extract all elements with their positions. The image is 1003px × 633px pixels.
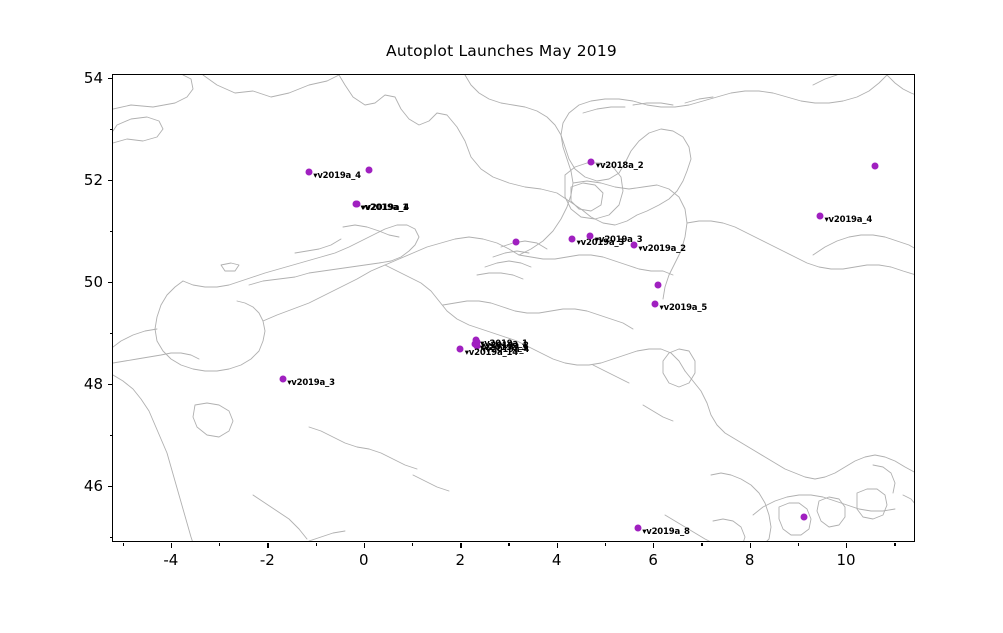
x-tick-label: -2 (260, 551, 275, 569)
data-point[interactable] (569, 235, 576, 242)
coastline-svg (113, 75, 914, 541)
x-minor-tick (701, 543, 702, 546)
data-point[interactable] (512, 239, 519, 246)
x-minor-tick (894, 543, 895, 546)
data-point[interactable] (457, 346, 464, 353)
x-tick-label: 8 (745, 551, 755, 569)
data-point-label: ▾v2019a_3 (287, 378, 335, 388)
x-tick-label: 10 (837, 551, 856, 569)
data-point-label: ▾v2019a_8 (642, 527, 690, 537)
x-tick (460, 543, 461, 548)
data-point-label: ▾v2019a_4 (824, 215, 872, 225)
y-minor-tick (110, 231, 113, 232)
x-tick (557, 543, 558, 548)
data-point[interactable] (800, 513, 807, 520)
x-tick (846, 543, 847, 548)
data-point[interactable] (366, 167, 373, 174)
x-minor-tick (219, 543, 220, 546)
page-title: Autoplot Launches May 2019 (0, 42, 1003, 60)
x-tick (267, 543, 268, 548)
x-tick-label: 6 (648, 551, 658, 569)
x-minor-tick (412, 543, 413, 546)
data-point-label: ▾v2019a_2 (638, 244, 686, 254)
data-point-label: ▾v2019a_14 (465, 348, 518, 358)
x-tick (653, 543, 654, 548)
data-point-label: ▾v2018a_2 (596, 161, 644, 171)
plot-figure: Autoplot Launches May 2019 (0, 0, 1003, 633)
data-point[interactable] (871, 162, 878, 169)
y-tick-label: 54 (84, 69, 103, 87)
y-tick (108, 180, 113, 181)
x-tick (364, 543, 365, 548)
data-point[interactable] (630, 241, 637, 248)
data-point[interactable] (279, 376, 286, 383)
y-minor-tick (110, 435, 113, 436)
data-point[interactable] (655, 281, 662, 288)
x-minor-tick (605, 543, 606, 546)
x-tick-label: 4 (552, 551, 562, 569)
y-tick-label: 46 (84, 477, 103, 495)
y-minor-tick (110, 333, 113, 334)
basemap-layer (113, 75, 914, 541)
y-minor-tick (110, 129, 113, 130)
y-minor-tick (110, 537, 113, 538)
x-tick-label: -4 (163, 551, 178, 569)
y-tick (108, 486, 113, 487)
x-tick (750, 543, 751, 548)
data-point[interactable] (652, 300, 659, 307)
y-tick-label: 48 (84, 375, 103, 393)
data-point[interactable] (353, 201, 360, 208)
x-minor-tick (316, 543, 317, 546)
x-minor-tick (798, 543, 799, 546)
y-tick (108, 78, 113, 79)
y-tick (108, 282, 113, 283)
data-point[interactable] (587, 232, 594, 239)
y-tick-label: 50 (84, 273, 103, 291)
y-tick-label: 52 (84, 171, 103, 189)
data-point-label: ▾v2019a_5 (660, 303, 708, 313)
x-tick-label: 0 (359, 551, 369, 569)
data-point-label: ▾v2019a_4 (361, 203, 409, 213)
y-tick (108, 384, 113, 385)
data-point[interactable] (305, 168, 312, 175)
x-minor-tick (123, 543, 124, 546)
x-minor-tick (508, 543, 509, 546)
data-point-label: ▾v2019a_4 (313, 171, 361, 181)
x-tick-label: 2 (455, 551, 465, 569)
x-tick (171, 543, 172, 548)
data-point[interactable] (634, 524, 641, 531)
data-point[interactable] (588, 158, 595, 165)
plot-axes: 4648505254-4-20246810 (112, 74, 915, 542)
data-point[interactable] (816, 213, 823, 220)
